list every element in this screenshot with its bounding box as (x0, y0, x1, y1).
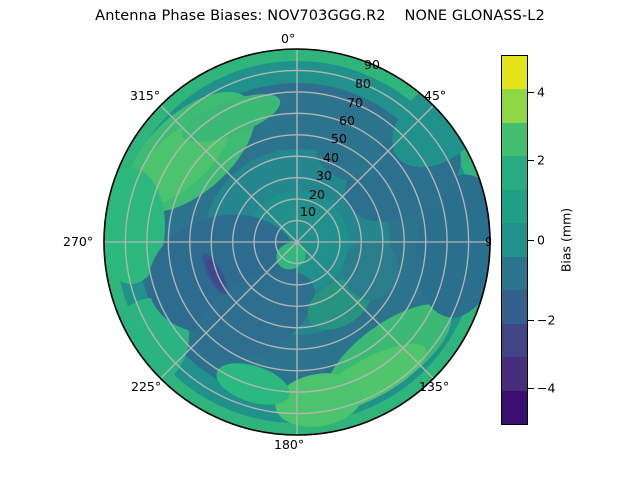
colorbar-gutter-mask (491, 55, 501, 425)
colorbar-tick-mark-minus2 (528, 320, 534, 321)
colorbar-band-2 (502, 123, 527, 156)
colorbar-gradient (501, 55, 528, 425)
angular-tick-270: 270° (63, 234, 93, 249)
angular-tick-0: 0° (281, 31, 295, 46)
polar-grid (104, 49, 490, 435)
radial-tick-50: 50 (331, 131, 347, 146)
colorbar-tick-mark-0 (528, 240, 534, 241)
colorbar-band-0 (502, 56, 527, 89)
colorbar-tick-mark-2 (528, 160, 534, 161)
radial-tick-30: 30 (316, 168, 332, 183)
colorbar-tick-label-minus4: −4 (537, 380, 555, 395)
colorbar-tick-label-0: 0 (537, 233, 545, 248)
radial-tick-20: 20 (309, 187, 325, 202)
colorbar-band-8 (502, 324, 527, 357)
colorbar-tick-label-minus2: −2 (537, 313, 555, 328)
radial-tick-10: 10 (300, 204, 316, 219)
colorbar-axis-label: Bias (mm) (559, 208, 574, 272)
colorbar-tick-mark-4 (528, 92, 534, 93)
colorbar-band-1 (502, 89, 527, 122)
colorbar-tick-label-2: 2 (537, 152, 545, 167)
colorbar-band-6 (502, 257, 527, 290)
colorbar-band-10 (502, 391, 527, 424)
polar-plot-area (103, 48, 491, 436)
radial-tick-40: 40 (323, 150, 339, 165)
angular-tick-315: 315° (130, 88, 160, 103)
angular-tick-180: 180° (274, 437, 304, 452)
angular-tick-135: 135° (419, 379, 449, 394)
colorbar-band-7 (502, 290, 527, 323)
chart-title: Antenna Phase Biases: NOV703GGG.R2 NONE … (0, 8, 640, 24)
colorbar: 4 2 0 −2 −4 (501, 55, 528, 425)
colorbar-band-3 (502, 156, 527, 189)
radial-tick-60: 60 (339, 113, 355, 128)
radial-tick-70: 70 (347, 95, 363, 110)
colorbar-tick-mark-minus4 (528, 388, 534, 389)
radial-tick-90: 90 (364, 57, 380, 72)
colorbar-tick-label-4: 4 (537, 85, 545, 100)
radial-tick-80: 80 (355, 76, 371, 91)
angular-tick-45: 45° (424, 88, 446, 103)
angular-tick-225: 225° (131, 379, 161, 394)
patch-teal-east-inner (343, 240, 399, 300)
colorbar-band-5 (502, 223, 527, 256)
colorbar-band-9 (502, 357, 527, 390)
colorbar-band-4 (502, 190, 527, 223)
figure-canvas: Antenna Phase Biases: NOV703GGG.R2 NONE … (0, 0, 640, 480)
